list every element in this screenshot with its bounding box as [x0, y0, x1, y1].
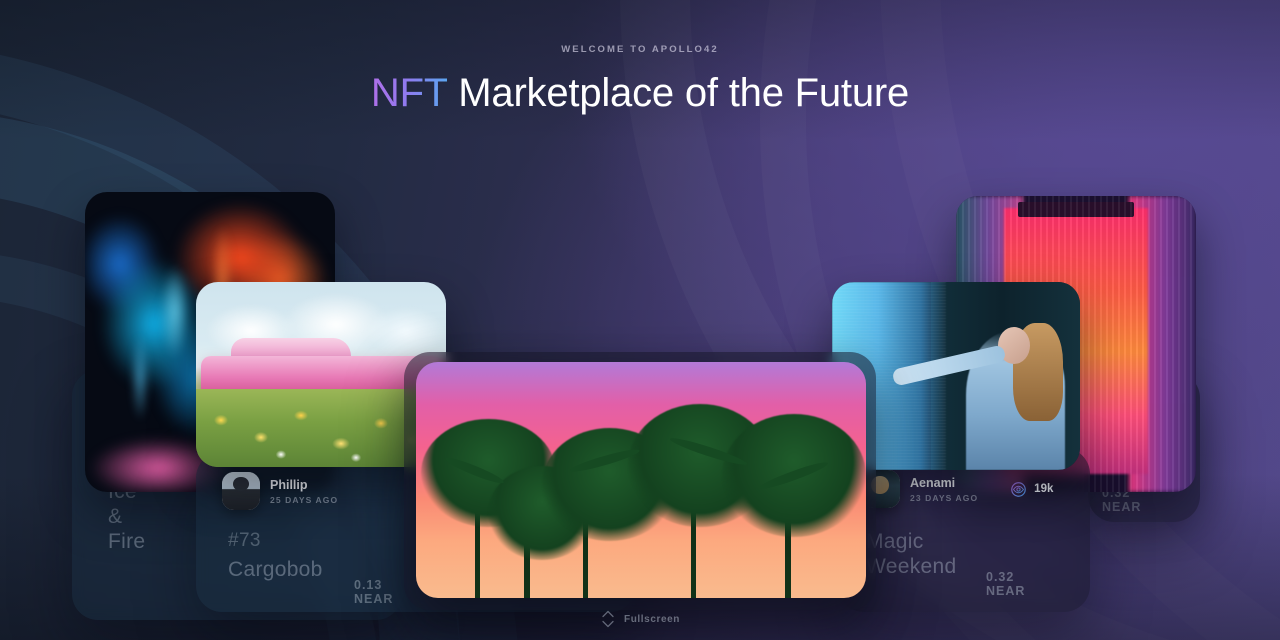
author-timestamp: 23 DAYS AGO: [910, 493, 978, 503]
views-count: 19k: [1034, 483, 1053, 495]
page-title: NFT Marketplace of the Future: [0, 71, 1280, 115]
artwork-image: [416, 362, 866, 598]
card-artwork-palms[interactable]: [416, 362, 866, 598]
views-counter: 19k: [1010, 481, 1053, 498]
author-block: Aenami 23 DAYS AGO: [910, 476, 978, 503]
hero-eyebrow: WELCOME TO APOLLO42: [0, 44, 1280, 55]
card-price: 0.32 NEAR: [986, 570, 1025, 598]
fullscreen-label: Fullscreen: [624, 614, 680, 625]
card-meta-row: Aenami 23 DAYS AGO 19k: [862, 470, 1092, 508]
author-timestamp: 25 DAYS AGO: [270, 495, 338, 505]
card-title-block: Magic Weekend: [866, 530, 1006, 580]
author-name: Aenami: [910, 476, 978, 490]
card-rank: #73: [228, 530, 323, 552]
fullscreen-button[interactable]: Fullscreen: [0, 608, 1280, 630]
card-price: 0.13 NEAR: [354, 578, 393, 606]
avatar-image: [222, 472, 260, 510]
author-name: Phillip: [270, 478, 338, 492]
card-title-block: #73 Cargobob: [228, 530, 323, 583]
hero-header: WELCOME TO APOLLO42 NFT Marketplace of t…: [0, 44, 1280, 115]
card-name: Cargobob: [228, 558, 323, 583]
hero-highlight-word: NFT: [371, 71, 447, 115]
chevron-expand-icon: [600, 608, 616, 630]
card-name: Magic Weekend: [866, 530, 1006, 580]
avatar: [222, 472, 260, 510]
author-block: Phillip 25 DAYS AGO: [270, 478, 338, 505]
eye-icon: [1010, 481, 1027, 498]
page-stage: WELCOME TO APOLLO42 NFT Marketplace of t…: [0, 0, 1280, 640]
hero-title-rest: Marketplace of the Future: [447, 71, 909, 115]
